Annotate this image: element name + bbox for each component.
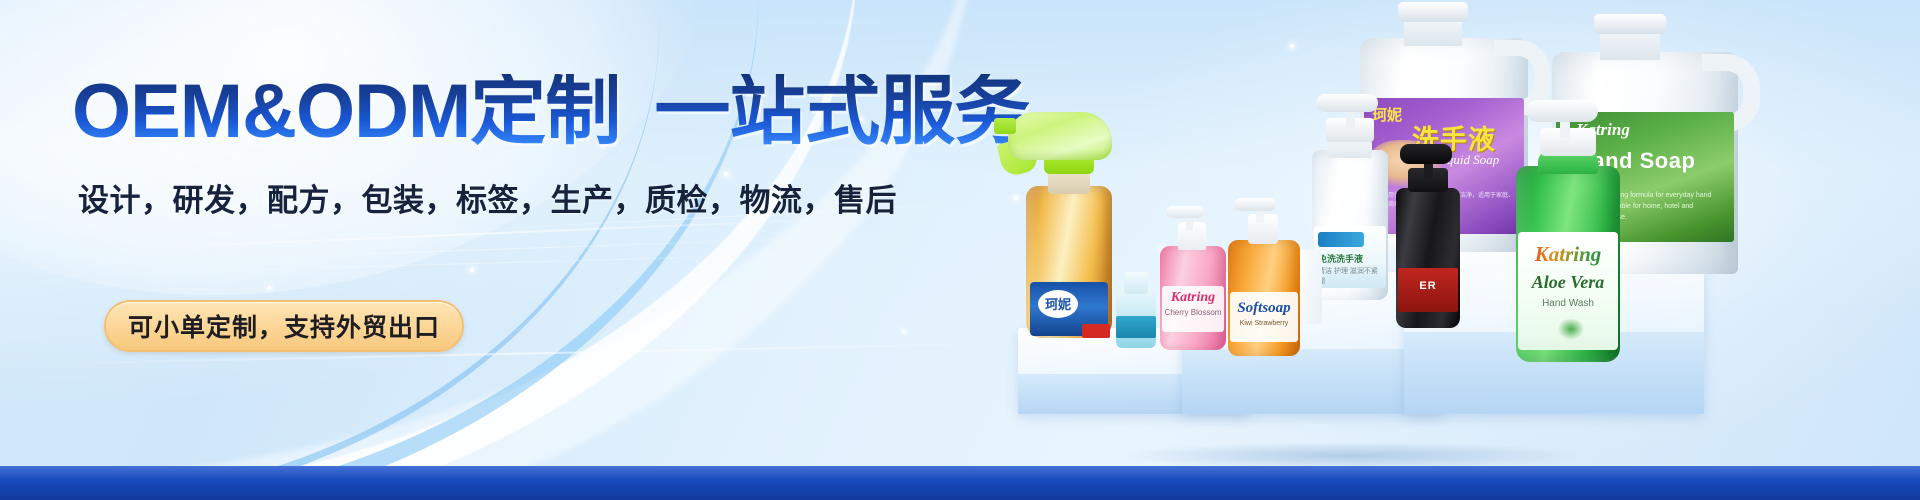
black-pump-label-text: ER: [1398, 280, 1458, 292]
white-pump-logo: [1318, 232, 1364, 247]
white-pump-head: [1316, 94, 1378, 112]
orange-softsoap-pump-head: [1234, 198, 1276, 211]
spray-bottle-label-accent: [1082, 324, 1110, 338]
banner-text-content: OEM&ODM定制一站式服务 设计，研发，配方，包装，标签，生产，质检，物流，售…: [0, 0, 1000, 500]
bottom-bar-sheen: [0, 466, 1920, 480]
black-pump-head: [1400, 144, 1452, 164]
spray-bottle-head: [1008, 112, 1112, 160]
pink-katring-variant: Cherry Blossom: [1162, 308, 1224, 317]
mini-blue-sanitizer-cap: [1124, 272, 1148, 294]
product-showcase: 珂妮 洗手液 Liquid Soap 本品采用优质原料精制而成，温和洁净，适用于…: [960, 0, 1920, 500]
service-list-subtitle: 设计，研发，配方，包装，标签，生产，质检，物流，售后: [78, 182, 897, 221]
orange-softsoap-brand: Softsoap: [1230, 300, 1298, 317]
orange-softsoap-variant: Kiwi Strawberry: [1230, 320, 1298, 327]
pink-katring-brand: Katring: [1162, 290, 1224, 306]
small-order-badge-label: 可小单定制，支持外贸出口: [128, 308, 440, 344]
spray-bottle-nozzle: [994, 118, 1016, 134]
white-pump-label-line1: 免洗洗手液: [1318, 252, 1382, 265]
small-order-badge[interactable]: 可小单定制，支持外贸出口: [104, 300, 464, 352]
page-title: OEM&ODM定制一站式服务: [72, 74, 1029, 150]
green-aloe-brand: Katring: [1518, 242, 1618, 267]
jerry-can-purple-cap: [1398, 2, 1468, 22]
promo-banner: OEM&ODM定制一站式服务 设计，研发，配方，包装，标签，生产，质检，物流，售…: [0, 0, 1920, 500]
headline-main: OEM&ODM定制: [72, 69, 620, 154]
spray-bottle-brand: 珂妮: [1040, 294, 1076, 313]
green-aloe-variant: Aloe Vera: [1518, 272, 1618, 293]
pink-katring-pump-head: [1166, 206, 1204, 218]
green-aloe-pump-head: [1526, 100, 1598, 122]
green-aloe-leaf-art: [1552, 316, 1590, 342]
bottom-accent-bar: [0, 466, 1920, 500]
white-pump-label-line2: 清洁 护理 滋润不紧绷: [1318, 266, 1382, 286]
green-aloe-subtitle: Hand Wash: [1518, 298, 1618, 309]
mini-blue-sanitizer-band: [1116, 316, 1156, 338]
jerry-can-green-cap: [1594, 14, 1666, 34]
